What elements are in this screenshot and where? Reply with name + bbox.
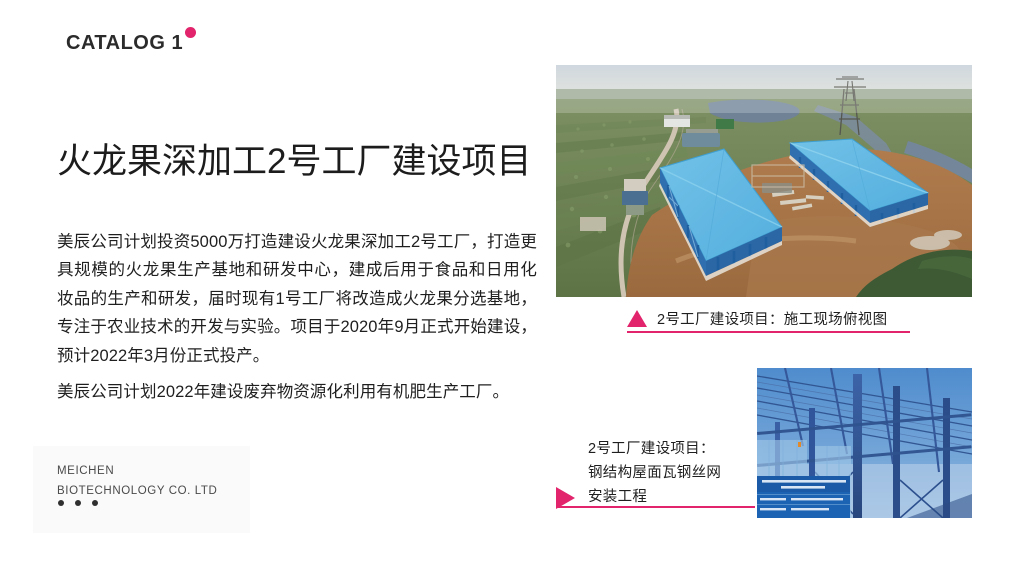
slide-canvas: CATALOG 1 火龙果深加工2号工厂建设项目 美辰公司计划投资5000万打造…	[0, 0, 1024, 578]
body-paragraph-2: 美辰公司计划2022年建设废弃物资源化利用有机肥生产工厂。	[57, 378, 537, 406]
brand-name: CATALOG 1	[66, 33, 183, 53]
body-paragraph-1: 美辰公司计划投资5000万打造建设火龙果深加工2号工厂，打造更具规模的火龙果生产…	[57, 228, 537, 370]
page-title: 火龙果深加工2号工厂建设项目	[57, 142, 527, 182]
dot-icon	[75, 500, 81, 506]
brand-logo: CATALOG 1	[66, 33, 196, 53]
figure-2-caption-rule	[558, 506, 755, 508]
steel-structure-photo	[757, 368, 972, 518]
figure-2-caption: 2号工厂建设项目： 钢结构屋面瓦钢丝网 安装工程	[588, 437, 758, 509]
figure-2-caption-line1: 2号工厂建设项目：	[588, 437, 758, 461]
figure-2-caption-line2: 钢结构屋面瓦钢丝网	[588, 461, 758, 485]
company-name-line2: BIOTECHNOLOGY CO. LTD	[57, 482, 217, 502]
figure-1-caption-rule	[627, 331, 910, 333]
footer-dots-decoration	[58, 500, 98, 506]
aerial-site-photo	[556, 65, 972, 297]
dot-icon	[92, 500, 98, 506]
company-name: MEICHEN BIOTECHNOLOGY CO. LTD	[57, 462, 217, 502]
aerial-site-illustration	[556, 65, 972, 297]
dot-icon	[58, 500, 64, 506]
project-sign-board	[757, 476, 850, 518]
figure-1-caption-text: 2号工厂建设项目：施工现场俯视图	[657, 308, 887, 329]
company-name-line1: MEICHEN	[57, 462, 217, 482]
steel-structure-illustration	[757, 368, 972, 518]
triangle-up-icon	[627, 310, 647, 327]
brand-dot-icon	[185, 27, 196, 38]
figure-1-caption: 2号工厂建设项目：施工现场俯视图	[627, 308, 907, 329]
